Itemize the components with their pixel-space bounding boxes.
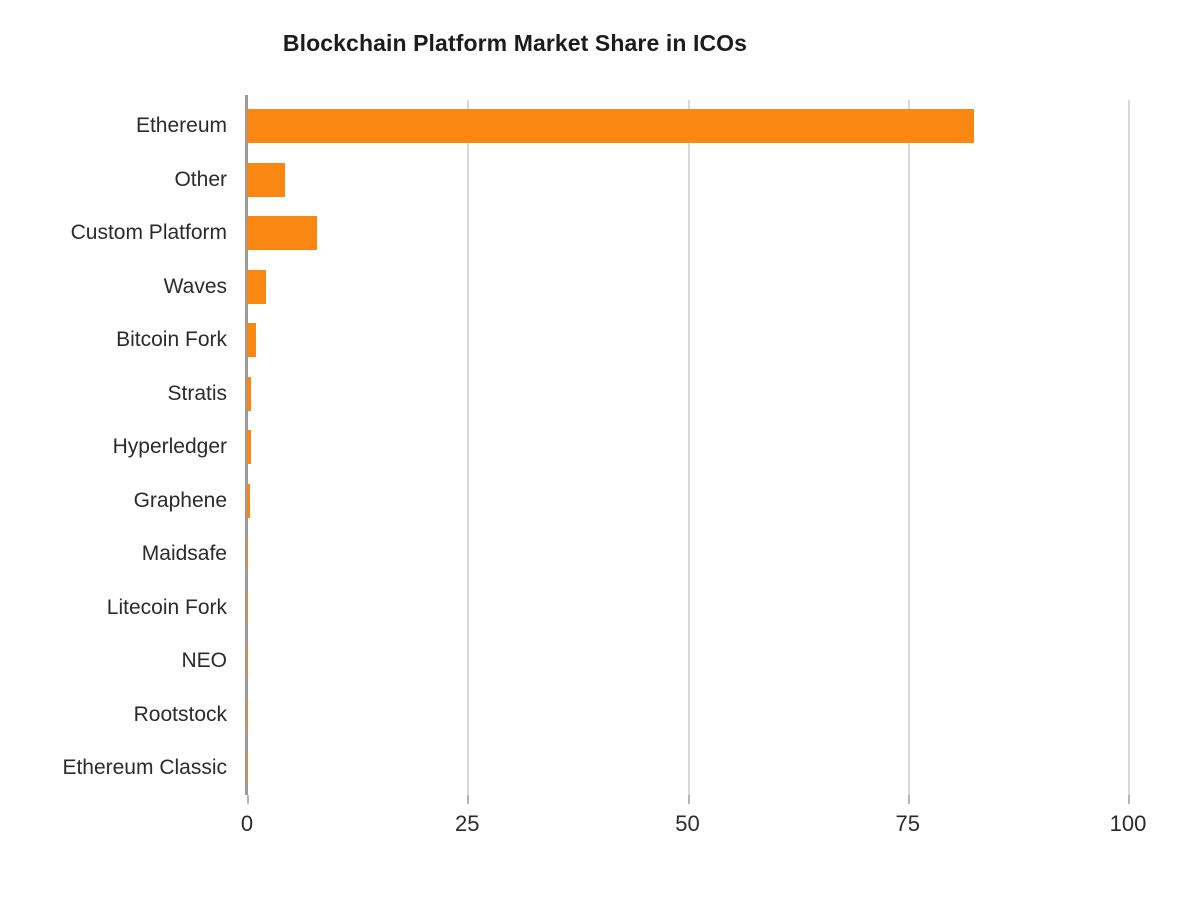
y-axis-label: Litecoin Fork bbox=[0, 597, 227, 619]
chart-container: Blockchain Platform Market Share in ICOs… bbox=[0, 0, 1200, 902]
x-tick-label: 25 bbox=[455, 811, 479, 837]
y-axis-label: Custom Platform bbox=[0, 222, 227, 244]
x-tick-mark bbox=[247, 795, 249, 804]
gridline-100 bbox=[1128, 100, 1130, 795]
bar bbox=[247, 109, 974, 143]
x-tick-label: 75 bbox=[896, 811, 920, 837]
x-tick-mark bbox=[467, 795, 469, 804]
x-tick-label: 0 bbox=[241, 811, 253, 837]
gridline-25 bbox=[467, 100, 469, 795]
y-axis-label: Graphene bbox=[0, 490, 227, 512]
y-axis-label: Ethereum bbox=[0, 115, 227, 137]
y-axis-label: NEO bbox=[0, 650, 227, 672]
gridline-50 bbox=[688, 100, 690, 795]
x-tick-mark bbox=[908, 795, 910, 804]
bar bbox=[247, 377, 251, 411]
bar bbox=[247, 323, 256, 357]
x-tick-label: 50 bbox=[675, 811, 699, 837]
y-axis-label: Maidsafe bbox=[0, 543, 227, 565]
y-axis-label: Hyperledger bbox=[0, 436, 227, 458]
x-axis-ticks: 0255075100 bbox=[0, 795, 1200, 855]
x-tick-mark bbox=[688, 795, 690, 804]
plot-area bbox=[247, 100, 1128, 795]
x-tick-label: 100 bbox=[1110, 811, 1147, 837]
y-axis-label: Rootstock bbox=[0, 704, 227, 726]
chart-title: Blockchain Platform Market Share in ICOs bbox=[0, 30, 1030, 57]
bar bbox=[247, 484, 250, 518]
y-axis-label: Other bbox=[0, 169, 227, 191]
y-axis-label: Waves bbox=[0, 276, 227, 298]
gridline-75 bbox=[908, 100, 910, 795]
bar bbox=[247, 216, 317, 250]
bar bbox=[247, 537, 248, 571]
x-tick-mark bbox=[1128, 795, 1130, 804]
bar bbox=[247, 163, 285, 197]
y-axis-label: Ethereum Classic bbox=[0, 757, 227, 779]
y-axis-category-labels: EthereumOtherCustom PlatformWavesBitcoin… bbox=[0, 100, 227, 795]
y-axis-label: Stratis bbox=[0, 383, 227, 405]
bar bbox=[247, 591, 248, 625]
bar bbox=[247, 430, 251, 464]
bar bbox=[247, 270, 266, 304]
y-axis-label: Bitcoin Fork bbox=[0, 329, 227, 351]
